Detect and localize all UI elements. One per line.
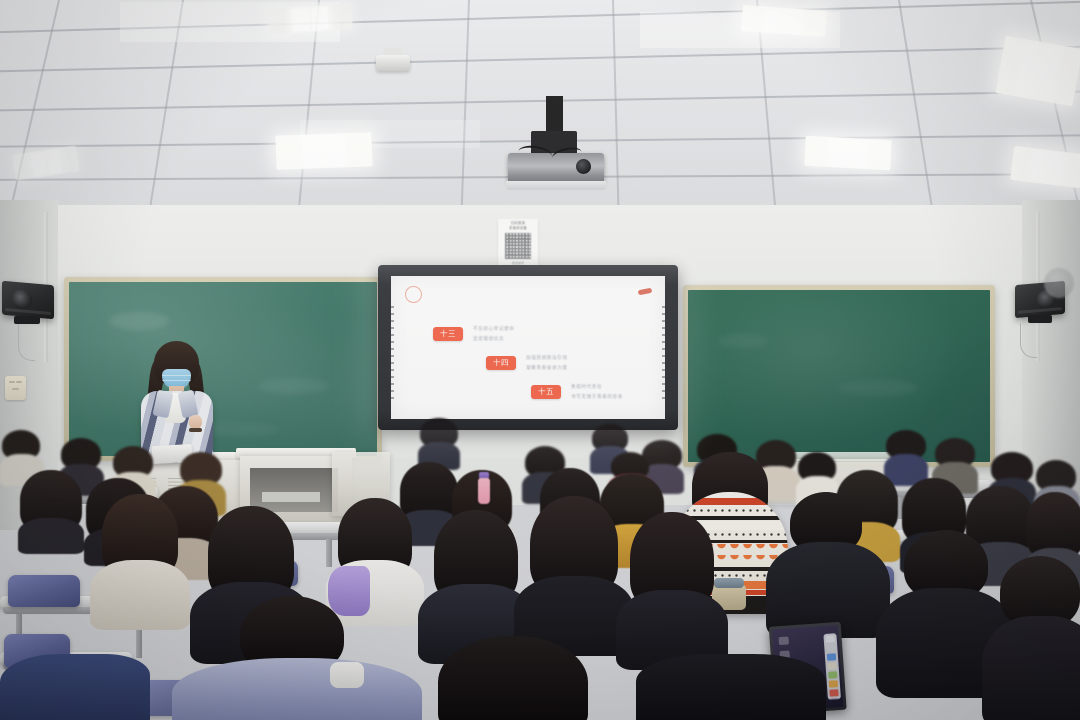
student — [636, 654, 826, 720]
face-mask-icon — [330, 662, 364, 688]
student — [418, 418, 460, 462]
slide-text-line: 不忘初心牢记使命 — [473, 326, 515, 332]
projector-front-panel — [506, 181, 606, 190]
slide-accent-mark-icon — [638, 288, 653, 296]
podium-shelf — [262, 492, 320, 502]
student-periwinkle-puffer — [182, 596, 412, 720]
presenter — [131, 341, 221, 461]
student — [622, 512, 722, 662]
qr-code-sticker: 扫码登录 多媒体设备 教室编号 — [498, 219, 538, 269]
qr-code-icon — [505, 233, 531, 259]
slide-text-line: 凝聚青春奋进力量 — [526, 365, 568, 371]
slide-text-line: 勇担时代责任 — [571, 384, 623, 390]
ceiling-light-panel — [275, 132, 372, 169]
speaker-wire-left — [18, 324, 35, 361]
wall-vent-fan — [1044, 268, 1074, 298]
slide-badge: 十五 — [531, 385, 561, 399]
qr-title-line-2: 多媒体设备 — [498, 226, 538, 231]
ceiling-light-panel — [996, 36, 1080, 107]
slide-text-line: 书写无愧于青春的答卷 — [571, 394, 623, 400]
slide-text-line: 坚定理想信念 — [473, 336, 515, 342]
presenter-hand — [189, 415, 202, 429]
ceiling-light-panel — [1010, 146, 1080, 188]
speaker-cone — [12, 289, 32, 311]
speaker-wire-right — [1020, 323, 1037, 358]
suspended-ceiling — [0, 0, 1080, 232]
slide-logo-icon — [405, 286, 422, 303]
wall-speaker-left — [2, 281, 54, 320]
ceiling-light-panel — [804, 136, 891, 170]
slide-badge: 十四 — [486, 356, 516, 370]
student — [94, 494, 186, 622]
slide-badge: 十三 — [433, 327, 463, 341]
slide-item: 十三 不忘初心牢记使命 坚定理想信念 — [433, 326, 515, 342]
student — [0, 640, 150, 720]
classroom-photograph: 扫码登录 多媒体设备 教室编号 — [0, 0, 1080, 720]
chalkboard-left — [64, 277, 382, 461]
student — [424, 510, 528, 656]
wristwatch-icon — [189, 428, 202, 432]
smoke-detector-icon — [376, 55, 410, 71]
speaker-bracket-left — [14, 316, 40, 324]
chair-back — [8, 575, 80, 607]
interactive-flat-panel-display[interactable]: 十三 不忘初心牢记使命 坚定理想信念 十四 加强思想政治引领 凝聚青春奋进力量 … — [378, 265, 678, 430]
slide-item: 十五 勇担时代责任 书写无愧于青春的答卷 — [531, 384, 623, 400]
wall-power-socket — [5, 376, 26, 400]
student — [398, 636, 628, 720]
water-bottle — [478, 478, 490, 504]
student — [20, 470, 82, 544]
laptop-dock[interactable] — [823, 633, 841, 700]
projector-lens — [576, 159, 591, 174]
student — [520, 496, 628, 648]
student — [772, 492, 884, 632]
display-screen[interactable]: 十三 不忘初心牢记使命 坚定理想信念 十四 加强思想政治引领 凝聚青春奋进力量 … — [391, 276, 665, 419]
student — [990, 556, 1080, 720]
slide-text-line: 加强思想政治引领 — [526, 355, 568, 361]
speaker-bracket-right — [1028, 315, 1052, 323]
slide-item: 十四 加强思想政治引领 凝聚青春奋进力量 — [486, 355, 568, 371]
